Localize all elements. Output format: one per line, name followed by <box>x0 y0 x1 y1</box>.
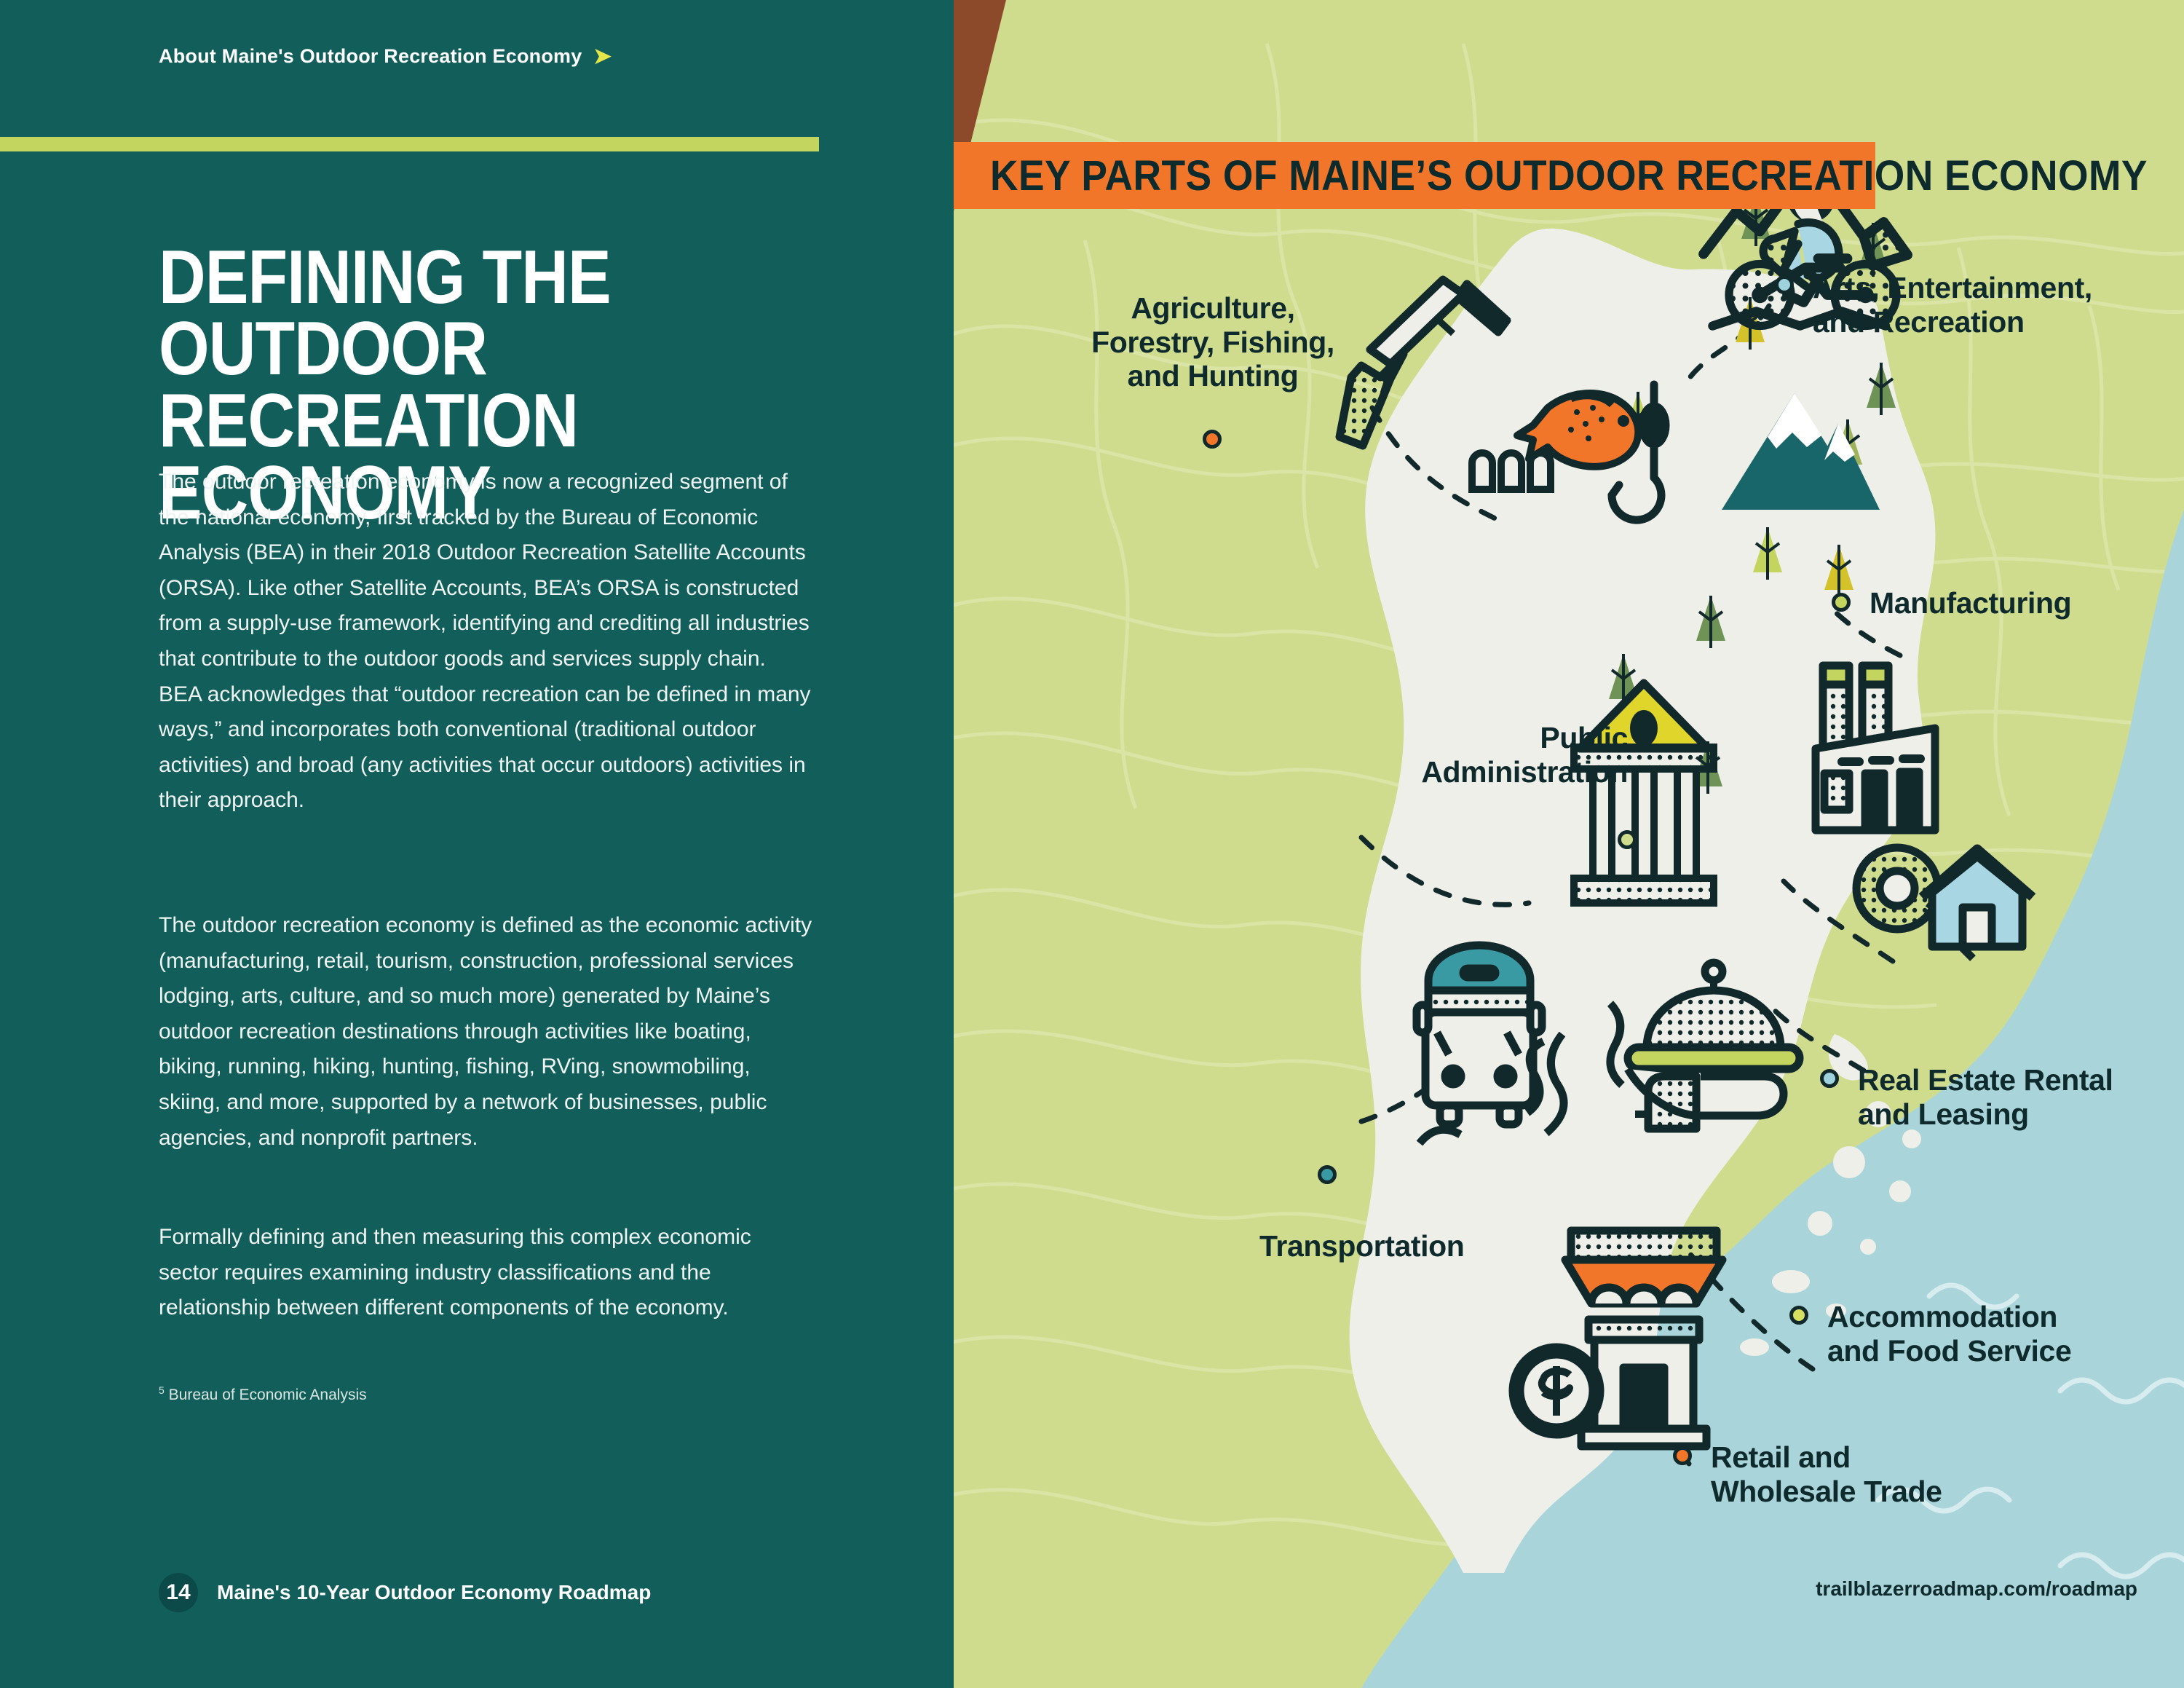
factory-icon <box>1816 666 1935 830</box>
label-line: Agriculture, <box>1131 291 1294 325</box>
map-panel: KEY PARTS OF MAINE’S OUTDOOR RECREATION … <box>954 0 2184 1688</box>
house-keys-icon <box>1856 848 2033 958</box>
map-icons-layer <box>954 0 2184 1688</box>
label-line: and Recreation <box>1813 305 2025 339</box>
arrow-right-icon: ➤ <box>593 46 612 68</box>
label-accommodation-food-service: Accommodationand Food Service <box>1827 1300 2169 1368</box>
fish-icon <box>1517 393 1638 467</box>
dot-retail <box>1673 1446 1692 1465</box>
label-arts-entertainment-recreation: Arts, Entertainment,and Recreation <box>1813 271 2177 339</box>
page-number-badge: 14 <box>159 1573 198 1612</box>
map-banner: KEY PARTS OF MAINE’S OUTDOOR RECREATION … <box>954 142 1875 209</box>
footer-document-title: Maine's 10-Year Outdoor Economy Roadmap <box>217 1581 651 1604</box>
bullets-icon <box>1472 453 1551 489</box>
infographic-page: About Maine's Outdoor Recreation Economy… <box>0 0 2184 1688</box>
label-manufacturing: Manufacturing <box>1870 586 2071 620</box>
dot-real-estate <box>1820 1069 1839 1088</box>
dot-accommodation <box>1789 1306 1808 1325</box>
dot-public-administration <box>1618 830 1637 849</box>
map-banner-title: KEY PARTS OF MAINE’S OUTDOOR RECREATION … <box>990 151 2148 200</box>
label-line: Public <box>1540 721 1628 754</box>
dot-arts-entertainment <box>1775 275 1794 294</box>
label-line: Arts, Entertainment, <box>1813 271 2092 304</box>
dot-manufacturing <box>1832 593 1851 612</box>
label-line: Real Estate Rental <box>1858 1063 2113 1097</box>
label-line: and Leasing <box>1858 1097 2029 1131</box>
lime-divider-rule <box>0 137 819 151</box>
left-text-panel: About Maine's Outdoor Recreation Economy… <box>0 0 954 1688</box>
label-line: Wholesale Trade <box>1711 1475 1942 1508</box>
label-retail-wholesale-trade: Retail andWholesale Trade <box>1711 1440 2053 1508</box>
label-agriculture-forestry-fishing-hunting: Agriculture,Forestry, Fishing,and Huntin… <box>1016 291 1409 393</box>
label-line: and Food Service <box>1827 1334 2071 1368</box>
bank-icon <box>1574 683 1714 903</box>
storefront-icon <box>1513 1231 1722 1446</box>
footnote-text: Bureau of Economic Analysis <box>169 1387 367 1403</box>
footer-website-url: trailblazerroadmap.com/roadmap <box>1816 1577 2137 1601</box>
label-line: Manufacturing <box>1870 586 2071 620</box>
dot-agriculture <box>1203 430 1222 449</box>
dot-transportation <box>1318 1165 1337 1184</box>
label-public-administration: PublicAdministration <box>1227 721 1628 789</box>
footer-left: 14 Maine's 10-Year Outdoor Economy Roadm… <box>159 1573 651 1612</box>
label-line: Accommodation <box>1827 1300 2057 1333</box>
footnote: 5 Bureau of Economic Analysis <box>159 1384 814 1405</box>
footnote-marker: 5 <box>159 1384 165 1396</box>
bus-icon <box>1417 945 1622 1143</box>
body-paragraph-3: Formally defining and then measuring thi… <box>159 1220 814 1326</box>
label-line: Administration <box>1421 755 1628 789</box>
food-service-icon <box>1628 963 1800 1129</box>
label-transportation: Transportation <box>1259 1229 1464 1263</box>
section-kicker: About Maine's Outdoor Recreation Economy <box>159 45 582 68</box>
body-paragraph-1: The outdoor recreation economy is now a … <box>159 465 814 819</box>
label-line: Transportation <box>1259 1229 1464 1263</box>
label-line: Retail and <box>1711 1440 1851 1474</box>
body-paragraph-2: The outdoor recreation economy is define… <box>159 908 814 1156</box>
label-line: Forestry, Fishing, <box>1091 326 1334 359</box>
label-line: and Hunting <box>1128 359 1299 393</box>
label-real-estate-rental-leasing: Real Estate Rentaland Leasing <box>1858 1063 2184 1131</box>
